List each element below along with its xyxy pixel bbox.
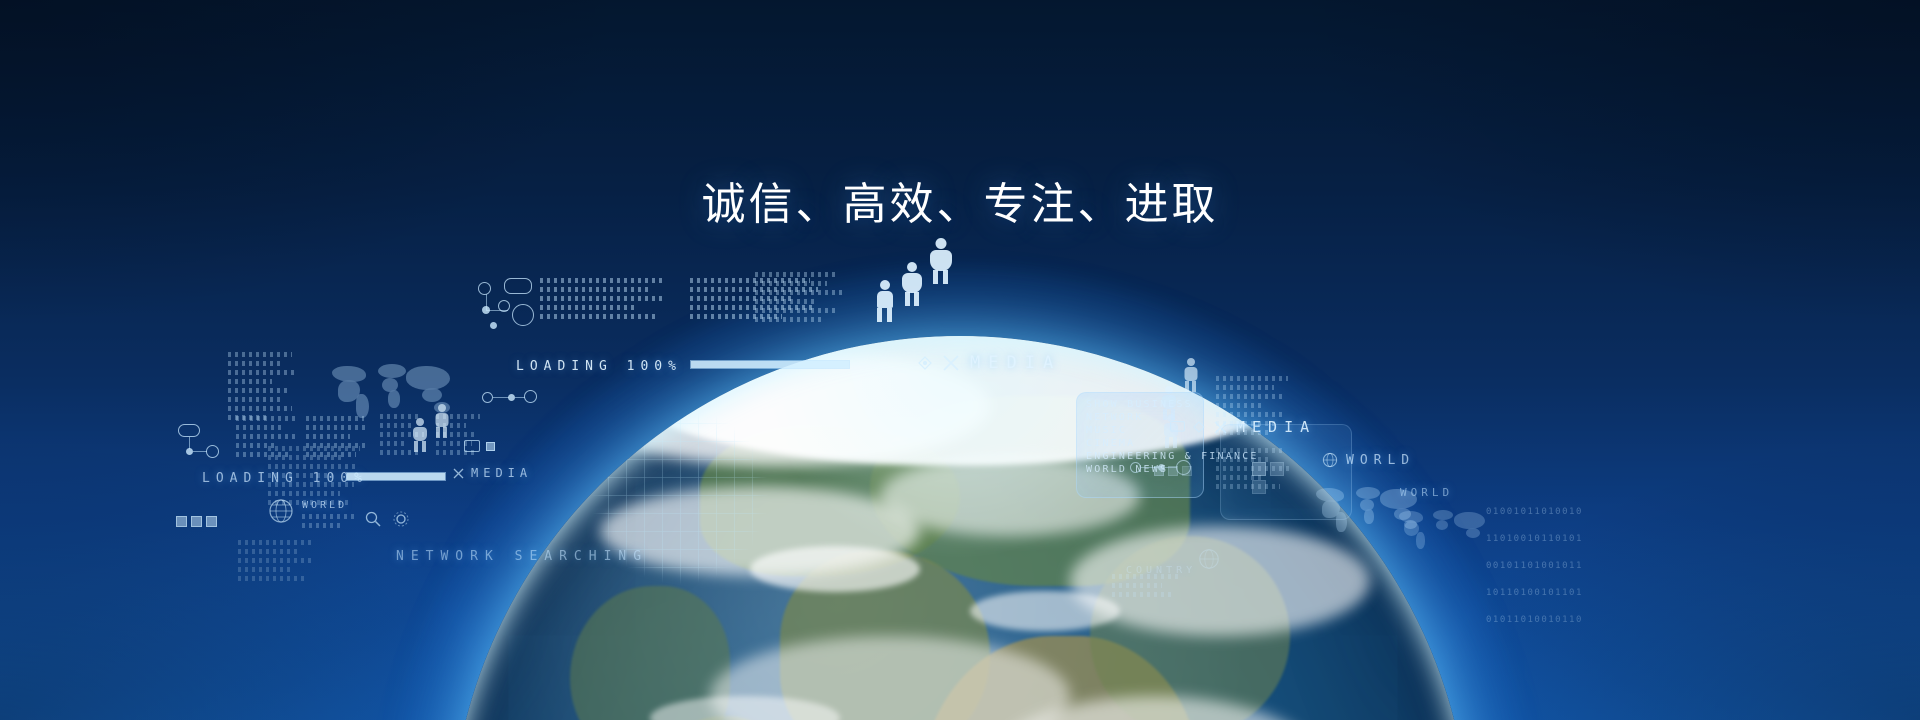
person-figure	[874, 280, 896, 322]
indicator-square	[1168, 466, 1178, 476]
indicator-square	[1252, 480, 1266, 494]
indicator-square	[191, 516, 202, 527]
data-block	[228, 352, 296, 426]
indicator-square	[1270, 462, 1284, 476]
indicator-square	[1154, 466, 1164, 476]
indicator-square	[206, 516, 217, 527]
progress-fill-lower	[347, 473, 445, 480]
node-graph-lower-left	[178, 424, 222, 460]
page-title: 诚信、高效、专注、进取	[0, 168, 1920, 232]
binary-data-block: 01001011010010 11010010110101 0010110100…	[1486, 490, 1583, 643]
data-block	[1112, 574, 1182, 604]
progress-bar-upper	[690, 360, 850, 369]
node-graph-upper	[470, 278, 540, 336]
person-figure	[411, 418, 429, 452]
person-figure	[433, 404, 451, 438]
monitor-icon	[464, 440, 480, 452]
gear-icon	[392, 510, 410, 528]
world-label-left: WORLD	[302, 500, 347, 511]
data-block	[540, 278, 670, 324]
data-block	[755, 272, 845, 328]
search-icon	[364, 510, 382, 528]
progress-fill-upper	[691, 361, 849, 368]
network-search-label: NETWORK SEARCHING	[396, 549, 648, 564]
world-map-far-right	[1396, 506, 1488, 554]
data-block	[238, 540, 318, 590]
hero-banner: 诚信、高效、专注、进取	[0, 0, 1920, 720]
person-figure	[900, 262, 924, 306]
globe-icon	[1198, 548, 1220, 570]
data-block	[302, 514, 358, 536]
progress-bar-lower	[346, 472, 446, 481]
indicator-square	[486, 442, 495, 451]
indicator-square	[176, 516, 187, 527]
person-figure	[1182, 358, 1200, 392]
indicator-square	[1252, 462, 1266, 476]
node-graph-left	[482, 384, 536, 414]
person-figure	[928, 238, 954, 284]
indicator-square	[1182, 466, 1192, 476]
globe-icon	[268, 498, 294, 524]
